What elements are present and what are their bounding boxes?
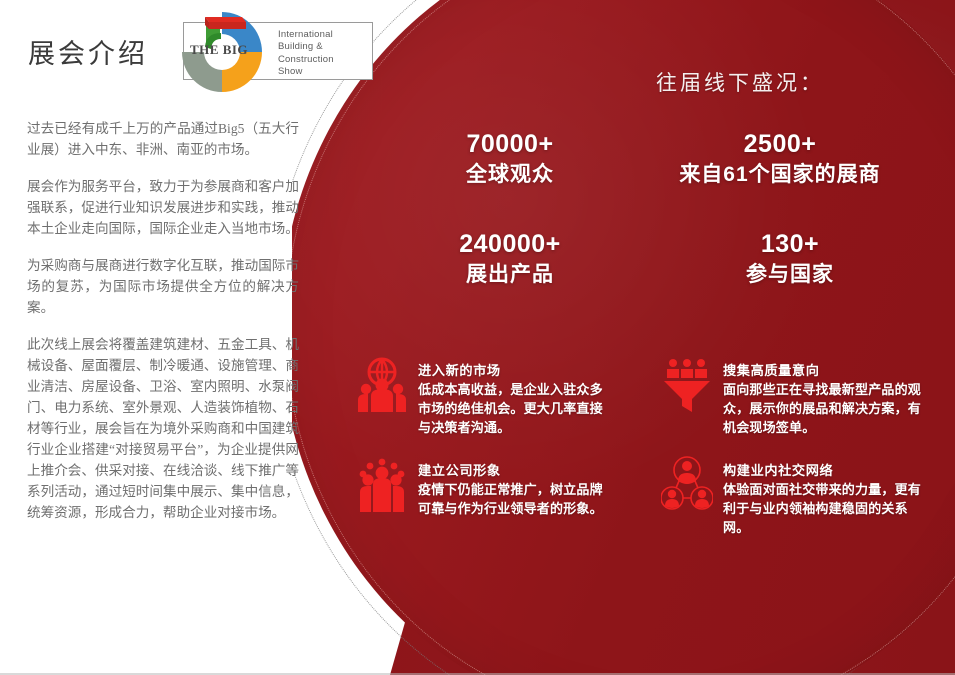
stat-number: 240000+: [400, 228, 620, 260]
stat-label: 参与国家: [640, 260, 940, 290]
feature-title: 构建业内社交网络: [723, 462, 931, 479]
red-ellipse-shape: [280, 0, 955, 675]
logo-tagline-line-4: Show: [278, 66, 334, 78]
intro-paragraph-3: 为采购商与展商进行数字化互联，推动国际市场的复苏，为国际市场提供全方位的解决方案…: [27, 255, 299, 318]
feature-title: 进入新的市场: [418, 362, 604, 379]
feature-description: 面向那些正在寻找最新型产品的观 众，展示你的展品和解决方案，有 机会现场签单。: [723, 380, 931, 437]
logo-wordmark: THE BIG: [190, 42, 248, 58]
logo-tagline-line-1: International: [278, 29, 334, 41]
stat-label: 展出产品: [400, 260, 620, 290]
feature-text: 建立公司形象 疫情下仍能正常推广，树立品牌可靠与作为行业领导者的形象。: [418, 456, 604, 518]
intro-paragraph-4: 此次线上展会将覆盖建筑建材、五金工具、机械设备、屋面覆层、制冷暖通、设施管理、商…: [27, 334, 299, 523]
slide-canvas: 展会介绍 THE BIG International Building & Co…: [0, 0, 955, 675]
feature-company-image: 建立公司形象 疫情下仍能正常推广，树立品牌可靠与作为行业领导者的形象。: [356, 456, 616, 518]
feature-industry-network: 构建业内社交网络 体验面对面社交带来的力量，更有 利于与业内领袖构建稳固的关系 …: [661, 456, 941, 537]
feature-text: 进入新的市场 低成本高收益，是企业入驻众多市场的绝佳机会。更大几率直接与决策者沟…: [418, 356, 604, 437]
feature-text: 构建业内社交网络 体验面对面社交带来的力量，更有 利于与业内领袖构建稳固的关系 …: [723, 456, 931, 537]
feature-new-markets: 进入新的市场 低成本高收益，是企业入驻众多市场的绝佳机会。更大几率直接与决策者沟…: [356, 356, 616, 437]
stat-block-visitors: 70000+ 全球观众: [400, 128, 620, 190]
stats-heading: 往届线下盛况：: [610, 67, 870, 97]
page-title: 展会介绍: [28, 32, 148, 71]
left-column: 展会介绍 THE BIG International Building & Co…: [0, 0, 330, 675]
stat-block-countries: 130+ 参与国家: [640, 228, 940, 290]
feature-description: 低成本高收益，是企业入驻众多市场的绝佳机会。更大几率直接与决策者沟通。: [418, 380, 604, 437]
stat-number: 70000+: [400, 128, 620, 160]
logo-tagline: International Building & Construction Sh…: [278, 29, 334, 79]
feature-description: 体验面对面社交带来的力量，更有 利于与业内领袖构建稳固的关系 网。: [723, 480, 931, 537]
globe-people-icon: [356, 356, 408, 412]
social-network-icon: [661, 456, 713, 512]
feature-title: 建立公司形象: [418, 462, 604, 479]
feature-description: 疫情下仍能正常推广，树立品牌可靠与作为行业领导者的形象。: [418, 480, 604, 518]
funnel-icon: [661, 356, 713, 412]
logo-tagline-line-2: Building &: [278, 41, 334, 53]
stat-number: 130+: [640, 228, 940, 260]
logo-tagline-line-3: Construction: [278, 54, 334, 66]
stat-label: 全球观众: [400, 160, 620, 190]
intro-paragraph-2: 展会作为服务平台，致力于为参展商和客户加 强联系，促进行业知识发展进步和实践，推…: [27, 176, 299, 239]
feature-title: 搜集高质量意向: [723, 362, 931, 379]
intro-paragraph-1: 过去已经有成千上万的产品通过Big5（五大行业展）进入中东、非洲、南亚的市场。: [27, 118, 299, 160]
feature-text: 搜集高质量意向 面向那些正在寻找最新型产品的观 众，展示你的展品和解决方案，有 …: [723, 356, 931, 437]
stat-number: 2500+: [620, 128, 940, 160]
feature-quality-leads: 搜集高质量意向 面向那些正在寻找最新型产品的观 众，展示你的展品和解决方案，有 …: [661, 356, 941, 437]
stat-label: 来自61个国家的展商: [620, 160, 940, 190]
stat-block-products: 240000+ 展出产品: [400, 228, 620, 290]
intro-body-copy: 过去已经有成千上万的产品通过Big5（五大行业展）进入中东、非洲、南亚的市场。 …: [27, 118, 299, 523]
people-group-icon: [356, 456, 408, 512]
stat-block-exhibitors: 2500+ 来自61个国家的展商: [620, 128, 940, 190]
